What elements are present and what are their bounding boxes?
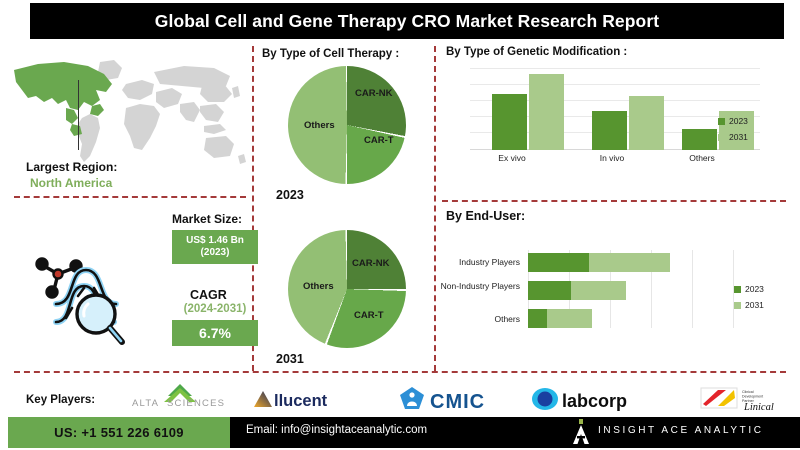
section-heading-genetic-modification: By Type of Genetic Modification : xyxy=(446,46,627,58)
dna-magnifier-icon xyxy=(22,252,132,348)
brand-name: INSIGHT ACE ANALYTIC xyxy=(598,425,764,436)
legend-item-2023: 2023 xyxy=(734,284,764,294)
cagr-label: CAGR xyxy=(190,288,227,302)
allucent-logo[interactable]: llucent xyxy=(252,388,368,410)
pie-2023-label-car-nk: CAR-NK xyxy=(355,88,392,99)
section-heading-end-user: By End-User: xyxy=(446,209,525,223)
pie-2031-year: 2031 xyxy=(276,352,304,366)
labcorp-logo[interactable]: labcorp xyxy=(530,386,658,412)
hbar-non-industry-players xyxy=(528,281,626,300)
legend-genetic-modification: 2023 2031 xyxy=(718,116,748,148)
svg-text:Clinical: Clinical xyxy=(742,390,754,394)
legend-swatch-2023 xyxy=(718,118,725,125)
bar-in-vivo-2023 xyxy=(592,111,627,150)
legend-item-2031: 2031 xyxy=(718,132,748,142)
legend-swatch-2031 xyxy=(718,134,725,141)
legend-item-2023: 2023 xyxy=(718,116,748,126)
market-size-year: (2023) xyxy=(201,247,230,259)
phone-number: US: +1 551 226 6109 xyxy=(54,425,184,440)
svg-text:SCIENCES: SCIENCES xyxy=(167,398,225,409)
world-map-icon xyxy=(8,52,248,172)
insight-ace-a-logo xyxy=(572,419,590,445)
page-title-bar: Global Cell and Gene Therapy CRO Market … xyxy=(30,3,784,39)
hbar-category-industry-players: Industry Players xyxy=(432,257,520,267)
svg-text:llucent: llucent xyxy=(274,392,328,410)
legend-swatch-2023 xyxy=(734,286,741,293)
hbar-non-industry-players-2023 xyxy=(528,281,571,300)
pie-2023-year: 2023 xyxy=(276,188,304,202)
market-size-box: US$ 1.46 Bn (2023) xyxy=(172,230,258,264)
email-text[interactable]: Email: info@insightaceanalytic.com xyxy=(246,424,427,436)
bar-group-ex-vivo xyxy=(492,74,564,150)
bar-in-vivo-2031 xyxy=(629,96,664,150)
svg-text:Development: Development xyxy=(742,395,763,399)
bar-group-in-vivo xyxy=(592,96,664,150)
hbar-category-others: Others xyxy=(432,314,520,324)
linical-logo[interactable]: Clinical Development Partner Linical xyxy=(700,384,792,412)
largest-region-label: Largest Region: xyxy=(26,160,117,174)
bar-others-2023 xyxy=(682,129,717,150)
legend-end-user: 2023 2031 xyxy=(734,284,764,316)
key-players-label: Key Players: xyxy=(26,394,95,406)
bar-category-ex-vivo: Ex vivo xyxy=(472,153,552,163)
end-user-chart xyxy=(528,250,733,328)
legend-label-2031: 2031 xyxy=(729,132,748,142)
hbar-non-industry-players-2031 xyxy=(571,281,626,300)
cagr-range: (2024-2031) xyxy=(172,303,258,315)
bar-category-in-vivo: In vivo xyxy=(572,153,652,163)
svg-text:Linical: Linical xyxy=(743,402,774,412)
svg-text:ALTA: ALTA xyxy=(132,398,159,409)
largest-region-value: North America xyxy=(30,176,112,190)
altasciences-logo[interactable]: ALTA SCIENCES xyxy=(120,382,246,410)
hbar-others-2023 xyxy=(528,309,547,328)
legend-label-2023: 2023 xyxy=(745,284,764,294)
divider-horizontal-right xyxy=(442,200,786,202)
legend-swatch-2031 xyxy=(734,302,741,309)
cagr-value: 6.7% xyxy=(199,325,231,341)
bar-category-others: Others xyxy=(662,153,742,163)
bar-ex-vivo-2023 xyxy=(492,94,527,150)
pie-2023-label-others: Others xyxy=(304,120,335,131)
chart-gridline xyxy=(692,250,693,328)
market-size-label: Market Size: xyxy=(172,212,242,226)
pie-2031-label-car-nk: CAR-NK xyxy=(352,258,389,269)
infographic-root: Global Cell and Gene Therapy CRO Market … xyxy=(0,0,800,450)
phone-bar[interactable]: US: +1 551 226 6109 xyxy=(8,417,230,448)
hbar-others-2031 xyxy=(547,309,592,328)
hbar-industry-players xyxy=(528,253,670,272)
legend-label-2031: 2031 xyxy=(745,300,764,310)
divider-horizontal-bottom xyxy=(14,371,786,373)
genetic-modification-chart xyxy=(470,68,760,150)
pie-2031-label-car-t: CAR-T xyxy=(354,310,384,321)
pie-2031-label-others: Others xyxy=(303,281,334,292)
hbar-category-non-industry-players: Non-Industry Players xyxy=(432,281,520,291)
hbar-industry-players-2023 xyxy=(528,253,589,272)
legend-label-2023: 2023 xyxy=(729,116,748,126)
hbar-industry-players-2031 xyxy=(589,253,670,272)
map-pointer-line xyxy=(78,80,79,150)
legend-item-2031: 2031 xyxy=(734,300,764,310)
divider-horizontal-left xyxy=(14,196,246,198)
hbar-others xyxy=(528,309,592,328)
section-heading-cell-therapy: By Type of Cell Therapy : xyxy=(262,48,399,60)
svg-text:labcorp: labcorp xyxy=(562,391,627,411)
cmic-logo[interactable]: CMIC xyxy=(398,386,526,412)
pie-2023-label-car-t: CAR-T xyxy=(364,135,394,146)
cagr-box: 6.7% xyxy=(172,320,258,346)
bar-ex-vivo-2031 xyxy=(529,74,564,150)
page-title: Global Cell and Gene Therapy CRO Market … xyxy=(155,11,659,32)
svg-text:CMIC: CMIC xyxy=(430,391,485,412)
market-size-value: US$ 1.46 Bn xyxy=(186,235,244,247)
